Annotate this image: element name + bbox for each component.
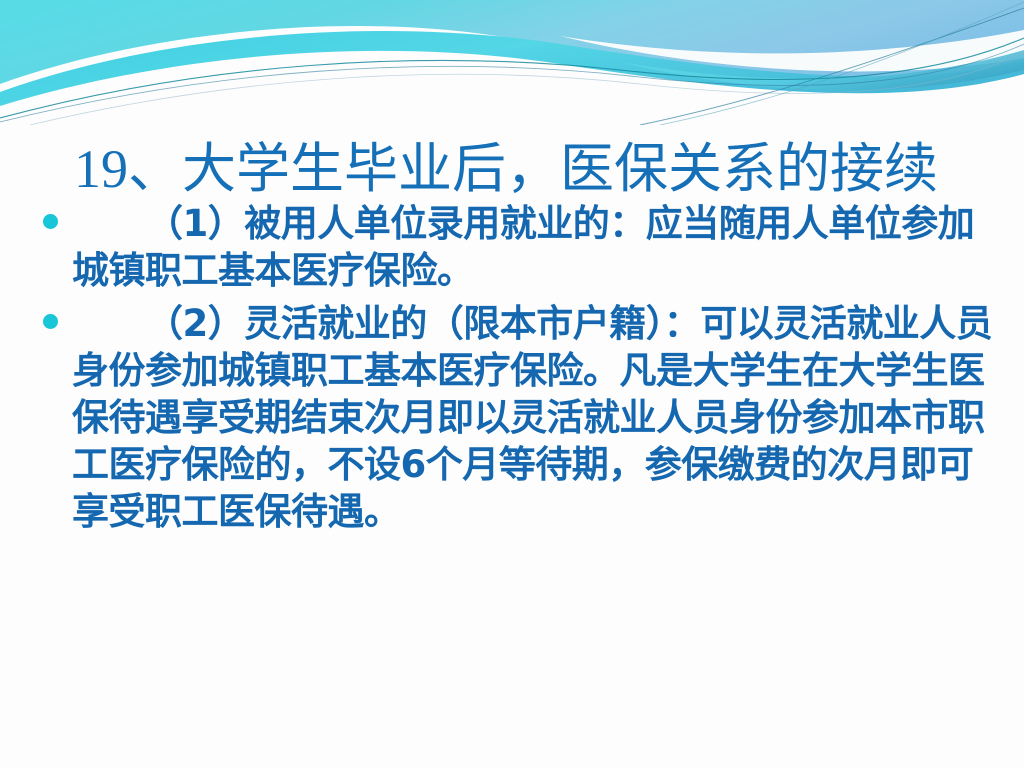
bullet-list-item: （2）灵活就业的（限本市户籍）：可以灵活就业人员身份参加城镇职工基本医疗保险。凡… xyxy=(34,300,999,535)
wave-filament-3 xyxy=(30,52,1024,125)
wave-shape-cyan-band-secondary xyxy=(620,50,1024,90)
bullet-item-text: （2）灵活就业的（限本市户籍）：可以灵活就业人员身份参加城镇职工基本医疗保险。凡… xyxy=(72,300,999,535)
wave-filament-2 xyxy=(0,44,1024,122)
bullet-item-text: （1）被用人单位录用就业的：应当随用人单位参加城镇职工基本医疗保险。 xyxy=(72,200,999,294)
wave-shape-white-base xyxy=(0,51,1024,125)
wave-filament-1 xyxy=(0,38,1024,118)
wave-shape-cyan-band xyxy=(0,31,1024,108)
presentation-slide: 19、大学生毕业后，医保关系的接续 （1）被用人单位录用就业的：应当随用人单位参… xyxy=(0,0,1024,768)
bullet-list-item: （1）被用人单位录用就业的：应当随用人单位参加城镇职工基本医疗保险。 xyxy=(34,200,999,294)
wave-filament-4 xyxy=(640,8,1024,125)
slide-body: （1）被用人单位录用就业的：应当随用人单位参加城镇职工基本医疗保险。 （2）灵活… xyxy=(34,200,999,541)
header-wave-decoration xyxy=(0,0,1024,125)
wave-filament-5 xyxy=(660,2,1024,125)
bullet-dot-icon xyxy=(43,314,58,329)
bullet-text-content: （2）灵活就业的（限本市户籍）：可以灵活就业人员身份参加城镇职工基本医疗保险。凡… xyxy=(72,302,992,533)
bullet-text-content: （1）被用人单位录用就业的：应当随用人单位参加城镇职工基本医疗保险。 xyxy=(72,202,974,292)
wave-shape-main xyxy=(0,0,1024,84)
slide-title: 19、大学生毕业后，医保关系的接续 xyxy=(74,142,1018,196)
bullet-dot-icon xyxy=(43,214,58,229)
wave-shape-white-upper xyxy=(560,0,1024,71)
